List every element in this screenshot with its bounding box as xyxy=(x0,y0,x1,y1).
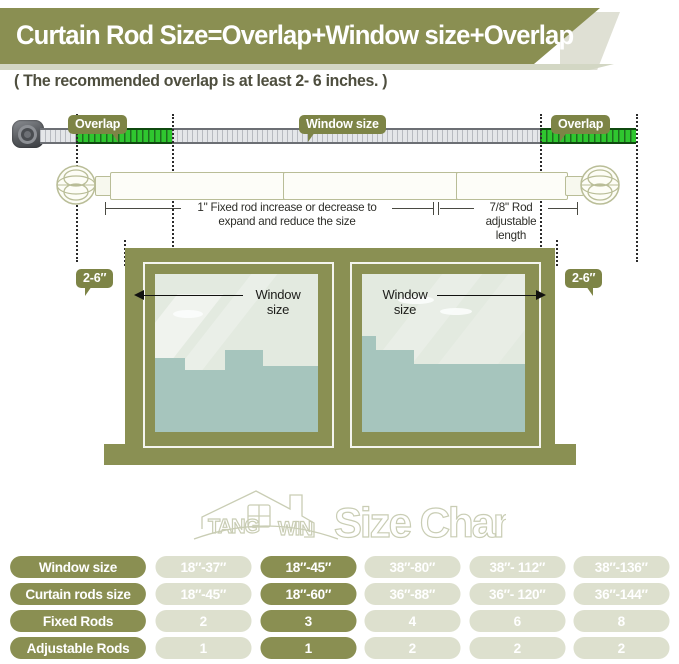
table-row: Curtain rods size 18″-45″ 18″-60″ 36″-88… xyxy=(8,583,671,605)
table-cell: 36″-144″ xyxy=(574,583,670,605)
table-cell: 36″- 120″ xyxy=(469,583,565,605)
window-size-label-right-line2: size xyxy=(373,302,437,317)
dim-label-fixed-rod-line1: 1" Fixed rod increase or decrease to xyxy=(181,201,393,215)
dim-tick-adjustable-right xyxy=(577,202,578,215)
callout-window-size-top-label: Window size xyxy=(306,117,379,131)
callout-overlap-left-label: Overlap xyxy=(75,117,120,131)
dim-line-fixed-right xyxy=(392,208,434,209)
window-size-arrow-line-right xyxy=(437,295,537,296)
size-chart-table: Window size 18″-37″ 18″-45″ 38″-80″ 38″-… xyxy=(8,556,671,664)
page-subtitle: ( The recommended overlap is at least 2-… xyxy=(14,72,387,91)
table-cell: 4 xyxy=(365,610,461,632)
callout-tail xyxy=(85,286,92,296)
table-cell-highlighted: 1 xyxy=(260,637,356,659)
finial-left-icon xyxy=(54,163,98,207)
skyline-block xyxy=(263,366,318,432)
callout-gap-right: 2-6″ xyxy=(565,269,602,288)
table-cell: 2 xyxy=(155,610,251,632)
table-cell: 1 xyxy=(155,637,251,659)
callout-gap-left-label: 2-6″ xyxy=(83,271,106,285)
header-underline xyxy=(0,64,614,70)
brand-logo: TANG WIN Size Chart xyxy=(186,483,506,549)
table-cell-highlighted: 3 xyxy=(260,610,356,632)
table-cell: 2 xyxy=(365,637,461,659)
table-cell: 38″-80″ xyxy=(365,556,461,578)
table-cell-highlighted: 18″-45″ xyxy=(260,556,356,578)
svg-text:TANG: TANG xyxy=(208,516,260,538)
window-size-label-left: Window size xyxy=(246,287,310,317)
table-cell: 2 xyxy=(574,637,670,659)
dim-label-adjustable-line1: 7/8" Rod xyxy=(474,201,548,215)
row-label-window-size: Window size xyxy=(10,556,146,578)
table-row: Fixed Rods 2 3 4 6 8 xyxy=(8,610,671,632)
dim-line-adjustable-left xyxy=(440,208,474,209)
dim-line-fixed-left xyxy=(105,208,181,209)
row-label-curtain-rods-size: Curtain rods size xyxy=(10,583,146,605)
callout-tail xyxy=(308,132,315,142)
window-size-label-left-line2: size xyxy=(246,302,310,317)
cloud-shape xyxy=(173,310,203,318)
callout-overlap-right-label: Overlap xyxy=(558,117,603,131)
table-cell-highlighted: 18″-60″ xyxy=(260,583,356,605)
callout-gap-right-label: 2-6″ xyxy=(572,271,595,285)
table-row: Window size 18″-37″ 18″-45″ 38″-80″ 38″-… xyxy=(8,556,671,578)
callout-overlap-right: Overlap xyxy=(551,115,610,134)
rod-section-fixed-left xyxy=(110,172,286,200)
dim-label-adjustable-line2: adjustable length xyxy=(474,215,548,243)
page-title: Curtain Rod Size=Overlap+Window size+Ove… xyxy=(16,12,548,58)
callout-overlap-left: Overlap xyxy=(68,115,127,134)
window-size-label-right: Window size xyxy=(373,287,437,317)
callout-tail xyxy=(560,132,567,142)
arrow-head-right xyxy=(536,290,546,300)
row-label-adjustable-rods: Adjustable Rods xyxy=(10,637,146,659)
rod-section-adjustable xyxy=(456,172,568,200)
table-row: Adjustable Rods 1 1 2 2 2 xyxy=(8,637,671,659)
window-size-arrow-line-left xyxy=(143,295,243,296)
table-cell: 18″-37″ xyxy=(155,556,251,578)
table-cell: 8 xyxy=(574,610,670,632)
finial-right-icon xyxy=(578,163,622,207)
window-size-label-right-line1: Window xyxy=(373,287,437,302)
callout-tail xyxy=(586,286,593,296)
guide-line-frame-right xyxy=(556,240,558,266)
table-cell: 36″-88″ xyxy=(365,583,461,605)
dim-line-adjustable-right xyxy=(548,208,578,209)
skyline-block xyxy=(155,358,185,432)
table-cell: 2 xyxy=(469,637,565,659)
table-cell: 38″- 112″ xyxy=(469,556,565,578)
dim-tick-fixed-right-a xyxy=(433,202,434,215)
dim-tick-fixed-right-b xyxy=(438,202,439,215)
table-cell: 18″-45″ xyxy=(155,583,251,605)
skyline-block xyxy=(225,350,263,432)
callout-gap-left: 2-6″ xyxy=(76,269,113,288)
cloud-shape xyxy=(440,308,472,315)
table-cell: 38″-136″ xyxy=(574,556,670,578)
arrow-head-left xyxy=(134,290,144,300)
rod-section-middle xyxy=(283,172,459,200)
skyline-block xyxy=(376,350,414,432)
dim-label-fixed-rod: 1" Fixed rod increase or decrease to exp… xyxy=(181,201,393,229)
dim-label-fixed-rod-line2: expand and reduce the size xyxy=(181,215,393,229)
svg-text:Size Chart: Size Chart xyxy=(334,499,506,546)
tape-ring-inner xyxy=(24,131,31,138)
row-label-fixed-rods: Fixed Rods xyxy=(10,610,146,632)
callout-window-size-top: Window size xyxy=(299,115,386,134)
guide-line-rod-right-end xyxy=(636,114,638,262)
table-cell: 6 xyxy=(469,610,565,632)
skyline-block xyxy=(362,336,376,432)
skyline-block xyxy=(185,370,225,432)
callout-tail xyxy=(111,132,118,142)
window-size-label-left-line1: Window xyxy=(246,287,310,302)
dim-label-adjustable: 7/8" Rod adjustable length xyxy=(474,201,548,243)
svg-text:WIN: WIN xyxy=(278,519,312,540)
skyline-block xyxy=(414,364,525,432)
